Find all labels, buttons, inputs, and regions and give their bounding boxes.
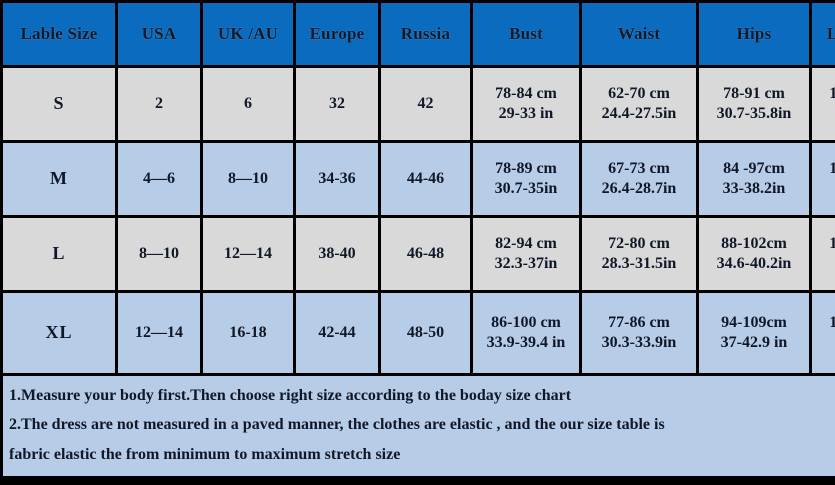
cell-russia: 48-50 — [381, 293, 470, 373]
header-europe: Europe — [296, 3, 378, 65]
cell-usa: 2 — [118, 68, 200, 140]
cell-length-cm: 155 cm — [812, 159, 835, 179]
cell-waist: 77-86 cm 30.3-33.9in — [582, 293, 696, 373]
header-waist: Waist — [582, 3, 696, 65]
cell-waist-in: 26.4-28.7in — [582, 179, 696, 199]
table-row: L 8—10 12—14 38-40 46-48 82-94 cm 32.3-3… — [3, 218, 835, 290]
cell-uk-au: 12—14 — [203, 218, 293, 290]
cell-bust-cm: 78-84 cm — [473, 84, 579, 104]
cell-length-in: 61 in — [812, 104, 835, 124]
header-uk-au: UK /AU — [203, 3, 293, 65]
header-hips: Hips — [699, 3, 809, 65]
cell-bust-in: 33.9-39.4 in — [473, 333, 579, 353]
size-chart-table: Lable Size USA UK /AU Europe Russia Bust… — [0, 0, 835, 479]
cell-europe: 42-44 — [296, 293, 378, 373]
cell-length: 155 cm 61 in — [812, 68, 835, 140]
cell-hips: 88-102cm 34.6-40.2in — [699, 218, 809, 290]
cell-bust-cm: 86-100 cm — [473, 313, 579, 333]
header-russia: Russia — [381, 3, 470, 65]
notes-row: 1.Measure your body first.Then choose ri… — [3, 376, 835, 476]
cell-waist-in: 24.4-27.5in — [582, 104, 696, 124]
cell-europe: 38-40 — [296, 218, 378, 290]
cell-waist-cm: 62-70 cm — [582, 84, 696, 104]
cell-bust-cm: 78-89 cm — [473, 159, 579, 179]
note-line-1: 1.Measure your body first.Then choose ri… — [7, 381, 835, 411]
header-bust: Bust — [473, 3, 579, 65]
cell-uk-au: 6 — [203, 68, 293, 140]
cell-uk-au: 8—10 — [203, 143, 293, 215]
cell-bust: 78-84 cm 29-33 in — [473, 68, 579, 140]
cell-length-in: 61 in — [812, 333, 835, 353]
note-line-2: 2.The dress are not measured in a paved … — [7, 410, 835, 440]
cell-bust-in: 32.3-37in — [473, 254, 579, 274]
cell-hips: 84 -97cm 33-38.2in — [699, 143, 809, 215]
cell-usa: 12—14 — [118, 293, 200, 373]
cell-bust-cm: 82-94 cm — [473, 234, 579, 254]
cell-length-in: 61 in — [812, 254, 835, 274]
size-chart-container: Lable Size USA UK /AU Europe Russia Bust… — [0, 0, 835, 485]
cell-bust: 82-94 cm 32.3-37in — [473, 218, 579, 290]
cell-length-in: 61 in — [812, 179, 835, 199]
cell-hips-in: 37-42.9 in — [699, 333, 809, 353]
cell-russia: 42 — [381, 68, 470, 140]
cell-russia: 46-48 — [381, 218, 470, 290]
cell-waist: 72-80 cm 28.3-31.5in — [582, 218, 696, 290]
table-row: M 4—6 8—10 34-36 44-46 78-89 cm 30.7-35i… — [3, 143, 835, 215]
cell-hips: 78-91 cm 30.7-35.8in — [699, 68, 809, 140]
cell-uk-au: 16-18 — [203, 293, 293, 373]
cell-usa: 8—10 — [118, 218, 200, 290]
cell-usa: 4—6 — [118, 143, 200, 215]
cell-size: M — [3, 143, 115, 215]
cell-size: S — [3, 68, 115, 140]
header-lable-size: Lable Size — [3, 3, 115, 65]
cell-europe: 34-36 — [296, 143, 378, 215]
header-length: Length — [812, 3, 835, 65]
cell-length: 155 cm 61 in — [812, 143, 835, 215]
cell-length-cm: 155 cm — [812, 84, 835, 104]
cell-length: 155 cm 61 in — [812, 293, 835, 373]
cell-length-cm: 155 cm — [812, 313, 835, 333]
cell-hips-in: 34.6-40.2in — [699, 254, 809, 274]
cell-waist-cm: 77-86 cm — [582, 313, 696, 333]
cell-waist-in: 30.3-33.9in — [582, 333, 696, 353]
cell-waist: 62-70 cm 24.4-27.5in — [582, 68, 696, 140]
note-line-3: fabric elastic the from minimum to maxim… — [7, 440, 835, 470]
header-usa: USA — [118, 3, 200, 65]
cell-europe: 32 — [296, 68, 378, 140]
cell-hips-in: 33-38.2in — [699, 179, 809, 199]
cell-length-cm: 155 cm — [812, 234, 835, 254]
cell-bust: 86-100 cm 33.9-39.4 in — [473, 293, 579, 373]
table-row: XL 12—14 16-18 42-44 48-50 86-100 cm 33.… — [3, 293, 835, 373]
cell-hips-cm: 88-102cm — [699, 234, 809, 254]
cell-hips: 94-109cm 37-42.9 in — [699, 293, 809, 373]
table-header: Lable Size USA UK /AU Europe Russia Bust… — [3, 3, 835, 65]
cell-waist-in: 28.3-31.5in — [582, 254, 696, 274]
cell-bust-in: 30.7-35in — [473, 179, 579, 199]
cell-hips-cm: 78-91 cm — [699, 84, 809, 104]
table-row: S 2 6 32 42 78-84 cm 29-33 in 62-70 cm 2… — [3, 68, 835, 140]
cell-waist: 67-73 cm 26.4-28.7in — [582, 143, 696, 215]
cell-length: 155 cm 61 in — [812, 218, 835, 290]
cell-waist-cm: 72-80 cm — [582, 234, 696, 254]
cell-waist-cm: 67-73 cm — [582, 159, 696, 179]
cell-hips-cm: 84 -97cm — [699, 159, 809, 179]
notes-cell: 1.Measure your body first.Then choose ri… — [3, 376, 835, 476]
cell-bust-in: 29-33 in — [473, 104, 579, 124]
cell-hips-in: 30.7-35.8in — [699, 104, 809, 124]
cell-size: XL — [3, 293, 115, 373]
cell-size: L — [3, 218, 115, 290]
cell-russia: 44-46 — [381, 143, 470, 215]
table-body: S 2 6 32 42 78-84 cm 29-33 in 62-70 cm 2… — [3, 68, 835, 476]
cell-hips-cm: 94-109cm — [699, 313, 809, 333]
cell-bust: 78-89 cm 30.7-35in — [473, 143, 579, 215]
header-row: Lable Size USA UK /AU Europe Russia Bust… — [3, 3, 835, 65]
